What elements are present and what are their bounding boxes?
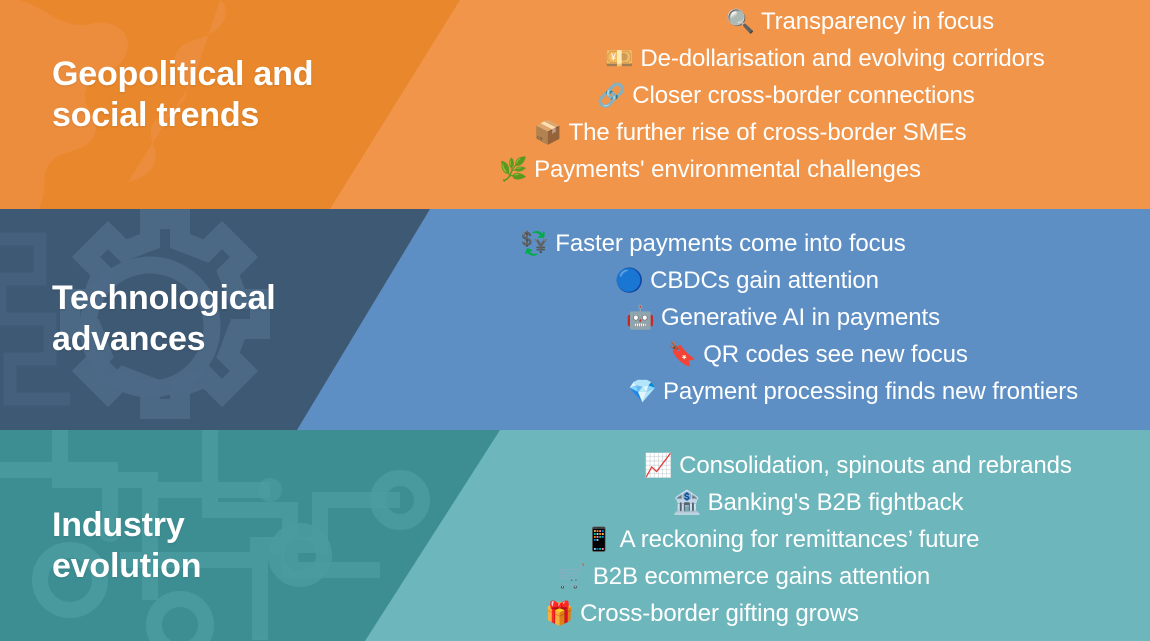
trend-item[interactable]: 🔖 QR codes see new focus [393, 337, 1150, 374]
trend-label: Closer cross-border connections [632, 83, 974, 109]
blue-globe-icon: 🔵 [615, 270, 641, 293]
trend-label: Consolidation, spinouts and rebrands [679, 453, 1072, 479]
qr-scan-icon: 🔖 [668, 344, 694, 367]
trend-label: QR codes see new focus [703, 342, 968, 368]
trend-item[interactable]: 🎁 Cross-border gifting grows [292, 596, 1112, 633]
trend-item[interactable]: 🔗 Closer cross-border connections [376, 78, 1150, 115]
trend-item[interactable]: 📈 Consolidation, spinouts and rebrands [448, 448, 1150, 485]
trend-label: Faster payments come into focus [555, 231, 905, 257]
trend-label: Payments' environmental challenges [534, 157, 921, 183]
section-heading-technological: Technological advances [52, 278, 275, 360]
robot-icon: 🤖 [626, 307, 652, 330]
trend-list-geopolitical: 🔍 Transparency in focus 💴 De-dollarisati… [330, 4, 1150, 189]
herb-icon: 🌿 [499, 159, 525, 182]
trend-item[interactable]: 🔍 Transparency in focus [450, 4, 1150, 41]
shopping-cart-icon: 🛒 [558, 566, 584, 589]
trend-label: Payment processing finds new frontiers [663, 379, 1078, 405]
trend-item[interactable]: 📱 A reckoning for remittances’ future [372, 522, 1150, 559]
trend-item[interactable]: 🌿 Payments' environmental challenges [300, 152, 1120, 189]
section-technological: Technological advances 💱 Faster payments… [0, 209, 1150, 430]
banknote-icon: 💴 [605, 48, 631, 71]
link-icon: 🔗 [597, 85, 623, 108]
trend-label: Banking's B2B fightback [708, 490, 964, 516]
trend-item[interactable]: 🔵 CBDCs gain attention [322, 263, 1150, 300]
trend-label: The further rise of cross-border SMEs [569, 120, 967, 146]
mobile-phone-icon: 📱 [585, 529, 611, 552]
section-heading-industry: Industry evolution [52, 505, 201, 587]
trend-list-industry: 📈 Consolidation, spinouts and rebrands 🏦… [330, 448, 1150, 633]
bank-icon: 🏦 [673, 492, 699, 515]
trend-label: Transparency in focus [761, 9, 994, 35]
trend-item[interactable]: 🏦 Banking's B2B fightback [408, 485, 1150, 522]
trend-item[interactable]: 💴 De-dollarisation and evolving corridor… [415, 41, 1150, 78]
trend-label: Generative AI in payments [661, 305, 940, 331]
trend-label: Cross-border gifting grows [580, 601, 859, 627]
magnifying-glass-icon: 🔍 [726, 11, 752, 34]
package-icon: 📦 [534, 122, 560, 145]
trend-item[interactable]: 💱 Faster payments come into focus [288, 226, 1138, 263]
trend-label: A reckoning for remittances’ future [620, 527, 980, 553]
trend-label: B2B ecommerce gains attention [593, 564, 930, 590]
section-heading-geopolitical: Geopolitical and social trends [52, 54, 313, 136]
gift-icon: 🎁 [545, 603, 571, 626]
trend-label: CBDCs gain attention [650, 268, 879, 294]
trend-label: De-dollarisation and evolving corridors [640, 46, 1044, 72]
trend-list-technological: 💱 Faster payments come into focus 🔵 CBDC… [300, 226, 1150, 411]
gem-icon: 💎 [628, 381, 654, 404]
trend-item[interactable]: 🤖 Generative AI in payments [358, 300, 1150, 337]
chart-increasing-icon: 📈 [644, 455, 670, 478]
trend-item[interactable]: 💎 Payment processing finds new frontiers [428, 374, 1150, 411]
section-geopolitical: Geopolitical and social trends 🔍 Transpa… [0, 0, 1150, 209]
trend-item[interactable]: 📦 The further rise of cross-border SMEs [340, 115, 1150, 152]
trend-item[interactable]: 🛒 B2B ecommerce gains attention [334, 559, 1150, 596]
currency-exchange-icon: 💱 [520, 233, 546, 256]
trends-infographic: Geopolitical and social trends 🔍 Transpa… [0, 0, 1150, 641]
section-industry: Industry evolution 📈 Consolidation, spin… [0, 430, 1150, 641]
